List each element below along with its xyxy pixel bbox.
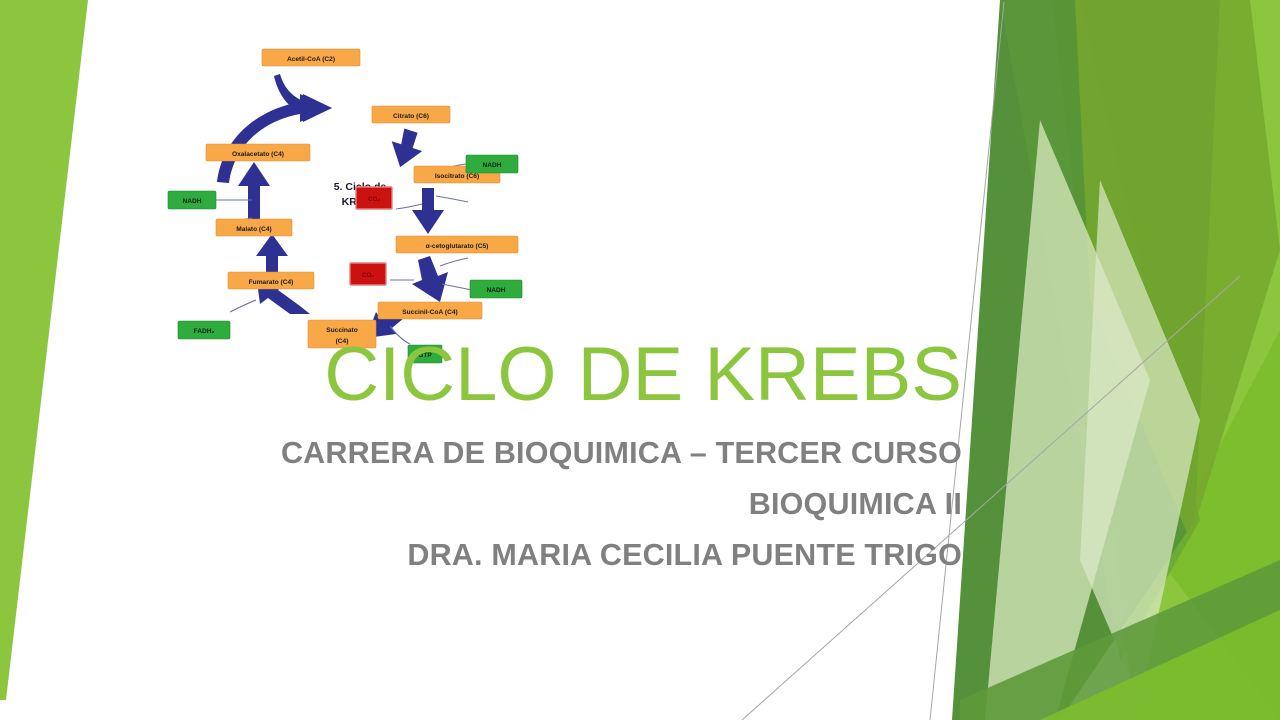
svg-text:CO₂: CO₂	[368, 196, 380, 203]
svg-text:FADH₂: FADH₂	[194, 328, 215, 335]
presentation-slide: .mbox{fill:#F8A846;stroke:#E0902E;stroke…	[0, 0, 1280, 720]
cofactor-node-nadh-isocitrato: NADH	[466, 155, 518, 173]
cofactor-node-nadh-ketoglut: NADH	[470, 280, 522, 298]
metabolite-node-oxalacetato: Oxalacetato (C4)	[206, 144, 310, 161]
slide-title: CICLO DE KREBS	[40, 336, 962, 414]
svg-text:NADH: NADH	[182, 198, 201, 205]
right-pale-green-sliver-2	[1080, 180, 1200, 700]
metabolite-node-alfa-cetoglutarato: α-cetoglutarato (C5)	[396, 236, 518, 253]
waste-node-co2-ketoglut: CO₂	[350, 263, 386, 285]
right-dark-green-panel	[952, 0, 1220, 720]
right-pale-green-sliver	[985, 120, 1150, 720]
slide-subtitle: CARRERA DE BIOQUIMICA – TERCER CURSO BIO…	[40, 428, 962, 582]
right-mid-green-panel	[1075, 0, 1280, 540]
right-lower-green-band-2	[1040, 610, 1280, 720]
metabolite-node-malato: Malato (C4)	[216, 219, 292, 236]
svg-text:NADH: NADH	[486, 287, 505, 294]
waste-node-co2-isocitrato: CO₂	[356, 187, 392, 209]
right-bright-green-field-2	[1160, 330, 1280, 720]
svg-text:CO₂: CO₂	[362, 272, 374, 279]
cofactor-node-nadh-malato: NADH	[168, 191, 216, 209]
svg-text:Succinil-CoA (C4): Succinil-CoA (C4)	[402, 309, 457, 316]
svg-text:α-cetoglutarato (C5): α-cetoglutarato (C5)	[426, 243, 489, 250]
svg-text:Oxalacetato (C4): Oxalacetato (C4)	[232, 151, 284, 158]
metabolite-node-citrato: Citrato (C6)	[372, 106, 450, 123]
svg-text:Fumarato (C4): Fumarato (C4)	[249, 279, 294, 286]
svg-text:Isocitrato (C6): Isocitrato (C6)	[435, 173, 479, 180]
svg-text:Citrato (C6): Citrato (C6)	[393, 113, 429, 120]
right-dark-green-panel-shade	[1000, 0, 1200, 660]
subtitle-line-2: BIOQUIMICA II	[40, 479, 962, 530]
metabolite-node-acetil-coa: Acetil-CoA (C2)	[262, 49, 360, 66]
subtitle-line-1: CARRERA DE BIOQUIMICA – TERCER CURSO	[40, 428, 962, 479]
krebs-cycle-diagram-image: .mbox{fill:#F8A846;stroke:#E0902E;stroke…	[160, 22, 580, 372]
svg-text:Malato (C4): Malato (C4)	[236, 226, 272, 233]
svg-text:Acetil-CoA (C2): Acetil-CoA (C2)	[287, 56, 335, 63]
right-bright-green-field	[1052, 0, 1280, 720]
metabolite-node-succinil-coa: Succinil-CoA (C4)	[378, 302, 482, 319]
metabolite-node-fumarato: Fumarato (C4)	[228, 272, 314, 289]
subtitle-line-3: DRA. MARIA CECILIA PUENTE TRIGO	[40, 530, 962, 581]
svg-text:NADH: NADH	[482, 162, 501, 169]
right-lower-green-band	[960, 560, 1280, 720]
